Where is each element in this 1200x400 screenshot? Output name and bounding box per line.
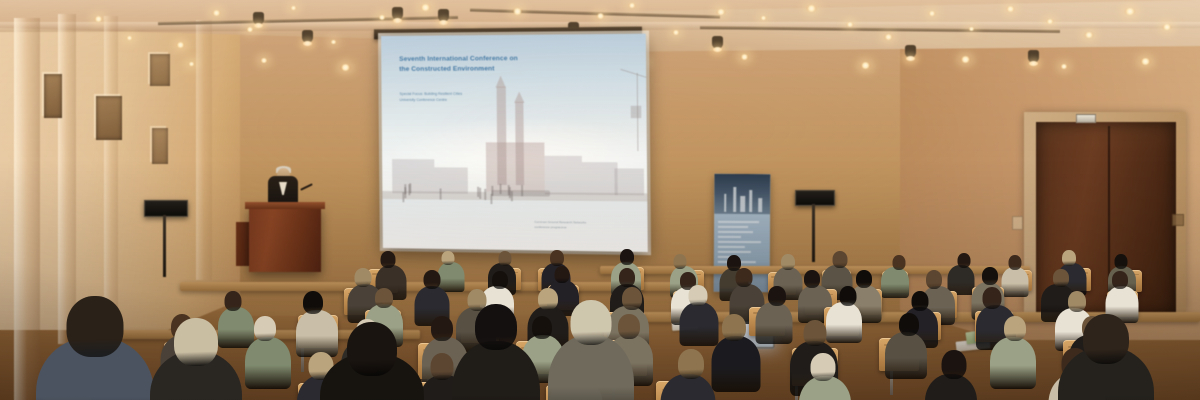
foreground-audience-member [452, 304, 540, 400]
audience-member-head [254, 316, 276, 341]
audience-member-head [678, 349, 704, 379]
audience-member-head [957, 253, 970, 268]
audience-member-head [893, 255, 906, 270]
audience-member-head [735, 268, 752, 287]
audience-member [660, 349, 715, 400]
audience-member-head [550, 250, 564, 266]
audience-seating [0, 0, 1200, 400]
audience-member-head [619, 268, 635, 287]
audience-member-head [620, 249, 634, 265]
audience-member-head [431, 316, 453, 341]
foreground-audience-member [150, 318, 242, 400]
audience-member [885, 313, 927, 383]
foreground-head [67, 296, 124, 357]
audience-member-head [942, 350, 967, 379]
audience-member-head [1115, 254, 1128, 269]
audience-member-head [912, 291, 929, 311]
audience-member-torso [755, 302, 792, 344]
foreground-head [174, 318, 218, 366]
audience-member-head [430, 353, 453, 380]
audience-member-head [1062, 250, 1076, 266]
foreground-head [475, 304, 517, 350]
audience-member-head [674, 254, 687, 269]
audience-member-head [1008, 255, 1021, 270]
audience-member-head [899, 313, 919, 336]
audience-member-head [225, 291, 242, 311]
audience-member-head [380, 251, 395, 268]
conference-hall-photo: Seventh International Conference on the … [0, 0, 1200, 400]
audience-member [711, 314, 760, 397]
audience-member-head [804, 270, 820, 288]
audience-member-head [781, 254, 795, 270]
audience-member-head [1068, 291, 1086, 312]
audience-member-head [303, 291, 323, 314]
audience-member-head [983, 287, 1002, 309]
audience-member-head [840, 286, 857, 306]
audience-member-head [423, 270, 440, 289]
audience-member [245, 316, 291, 393]
audience-member-head [499, 251, 512, 266]
audience-member-head [804, 320, 827, 346]
audience-member-head [354, 268, 371, 287]
audience-member-torso [885, 332, 927, 379]
foreground-audience-member [320, 322, 424, 400]
audience-member-head [722, 314, 746, 341]
audience-member-head [1053, 269, 1069, 287]
audience-member-head [555, 266, 570, 283]
foreground-head [571, 300, 612, 345]
audience-member-head [492, 271, 508, 289]
audience-member [799, 353, 851, 400]
audience-member-torso [711, 336, 760, 392]
audience-member [990, 316, 1036, 393]
audience-member-head [1004, 316, 1026, 341]
foreground-audience-member [36, 296, 154, 400]
audience-member-head [1112, 271, 1128, 289]
audience-member-head [811, 353, 836, 381]
audience-member [925, 350, 977, 400]
audience-member-head [441, 251, 454, 265]
audience-member-head [926, 270, 942, 289]
audience-member-torso [245, 337, 291, 389]
foreground-head [347, 322, 397, 376]
foreground-torso [548, 335, 634, 400]
audience-member [755, 286, 792, 348]
audience-member-head [688, 285, 707, 306]
audience-member-torso [990, 337, 1036, 389]
audience-member-head [832, 251, 847, 268]
foreground-head [1083, 314, 1129, 364]
audience-member-head [768, 286, 786, 306]
foreground-audience-member [1058, 314, 1154, 400]
audience-member-head [375, 288, 393, 308]
foreground-audience-member [548, 300, 634, 400]
audience-member-head [982, 267, 998, 285]
